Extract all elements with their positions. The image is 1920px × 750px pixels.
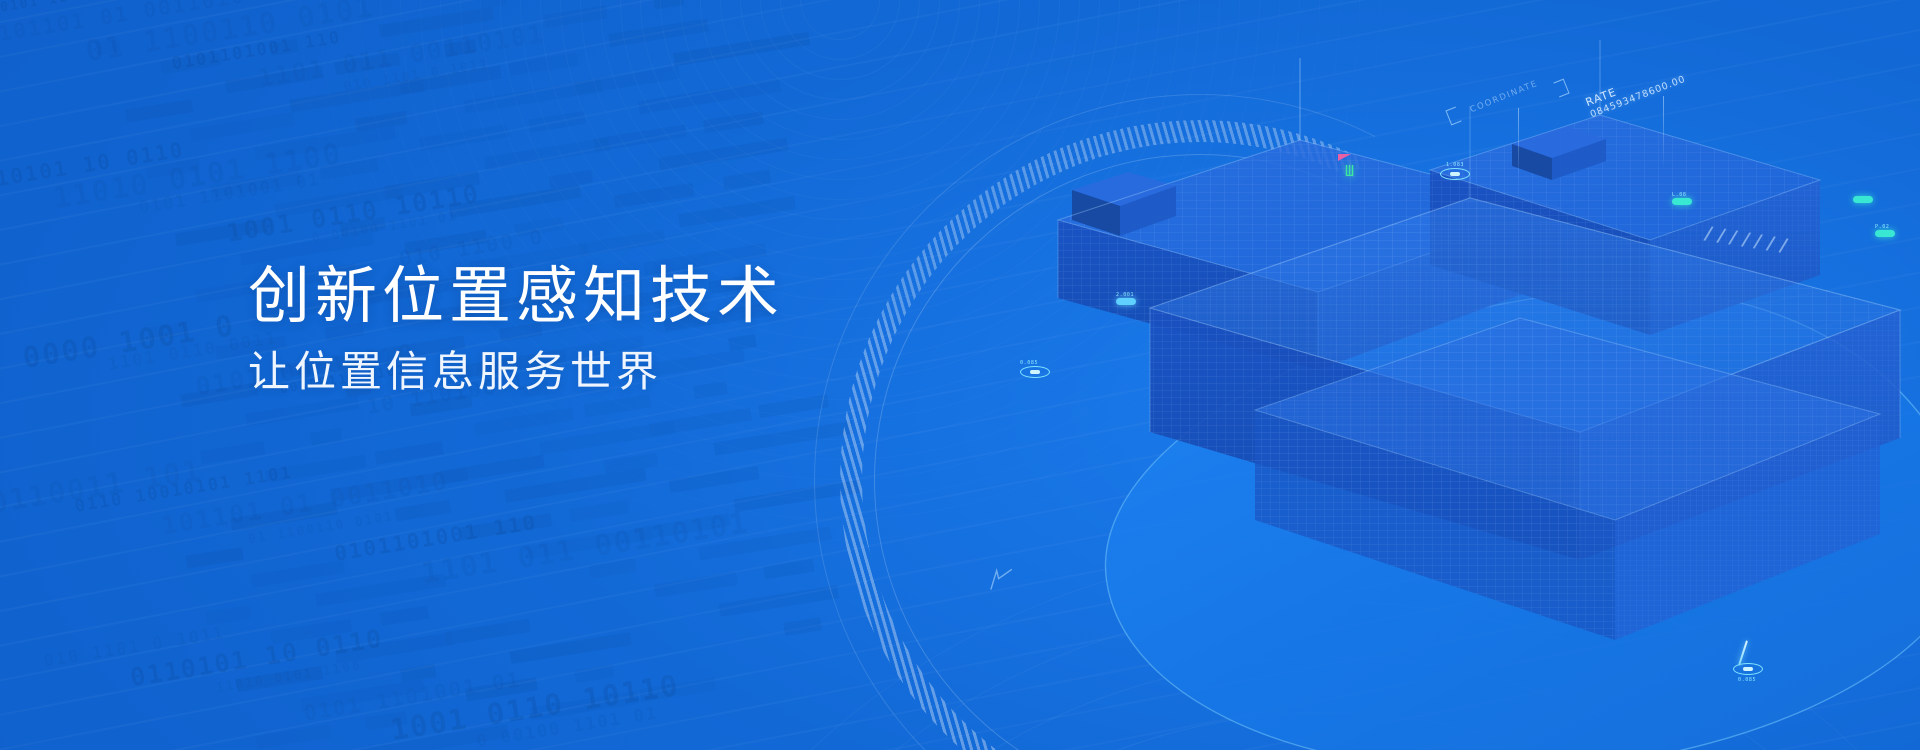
- pixel-bar: [190, 113, 295, 142]
- pixel-bar: [365, 711, 408, 730]
- pixel-bar: [484, 137, 610, 170]
- pixel-bar: [608, 19, 709, 47]
- pixel-bar: [245, 396, 360, 427]
- pixel-bar: [439, 455, 545, 484]
- pixel-bar: [723, 170, 771, 190]
- page-title: 创新位置感知技术: [248, 262, 784, 331]
- pixel-bar: [395, 500, 451, 521]
- pixel-bar: [335, 632, 454, 663]
- pixel-bar: [508, 52, 578, 76]
- pixel-bar: [404, 230, 487, 256]
- pixel-bar: [256, 724, 331, 748]
- pixel-bar: [200, 441, 265, 464]
- pixel-bar: [380, 606, 429, 626]
- pixel-bar: [529, 111, 586, 133]
- pixel-bar: [375, 441, 444, 464]
- pixel-bar: [319, 158, 378, 180]
- pixel-bar: [255, 126, 396, 161]
- pixel-bar: [459, 513, 552, 540]
- pixel-bar: [150, 322, 186, 340]
- pixel-bar: [240, 232, 374, 266]
- pixel-bar: [270, 619, 352, 645]
- pixel-bar: [180, 383, 258, 408]
- pixel-bar: [638, 79, 781, 114]
- pixel-bar: [613, 183, 694, 208]
- page-subtitle: 让位置信息服务世界: [248, 347, 784, 397]
- pixel-bar: [160, 52, 222, 74]
- pixel-bar: [95, 39, 121, 56]
- pixel-bar: [225, 65, 324, 93]
- pixel-bar: [210, 171, 302, 198]
- pixel-bar: [315, 573, 446, 606]
- pixel-bar: [320, 738, 432, 750]
- pixel-bar: [445, 619, 531, 645]
- pixel-bar: [384, 171, 480, 199]
- pixel-bar: [399, 66, 502, 95]
- pixel-bar: [230, 502, 338, 532]
- pixel-bar: [206, 605, 251, 625]
- pixel-bar: [653, 0, 685, 10]
- pixel-bar: [673, 32, 810, 66]
- pixel-bar: [419, 124, 509, 151]
- pixel-bar: [465, 677, 538, 701]
- pixel-bar: [235, 666, 323, 692]
- pixel-bar: [379, 7, 495, 38]
- pixel-bar: [300, 679, 425, 711]
- pixel-bar: [125, 99, 193, 122]
- city-3d-model: [1000, 40, 1920, 700]
- pixel-bar: [449, 185, 581, 218]
- pixel-bar: [444, 39, 478, 57]
- pixel-bar: [703, 111, 764, 133]
- pixel-bar: [310, 428, 343, 446]
- pixel-bar: [186, 547, 244, 569]
- pixel-bar: [269, 39, 299, 56]
- pixel-bar: [334, 52, 400, 75]
- hero-copy: 创新位置感知技术 让位置信息服务世界: [248, 262, 784, 398]
- pixel-bar: [658, 138, 788, 171]
- buildings-svg: [1000, 40, 1920, 700]
- pixel-bar: [573, 66, 680, 95]
- pixel-bar: [430, 725, 509, 750]
- hero-banner: 0110 10010101 1101101101 01 001101001 11…: [0, 0, 1920, 750]
- pixel-bar: [145, 158, 200, 179]
- pixel-bar: [593, 124, 687, 151]
- pixel-bar: [250, 560, 345, 588]
- pixel-bar: [175, 218, 273, 246]
- pixel-bar: [543, 5, 607, 28]
- pixel-bar: [265, 454, 367, 483]
